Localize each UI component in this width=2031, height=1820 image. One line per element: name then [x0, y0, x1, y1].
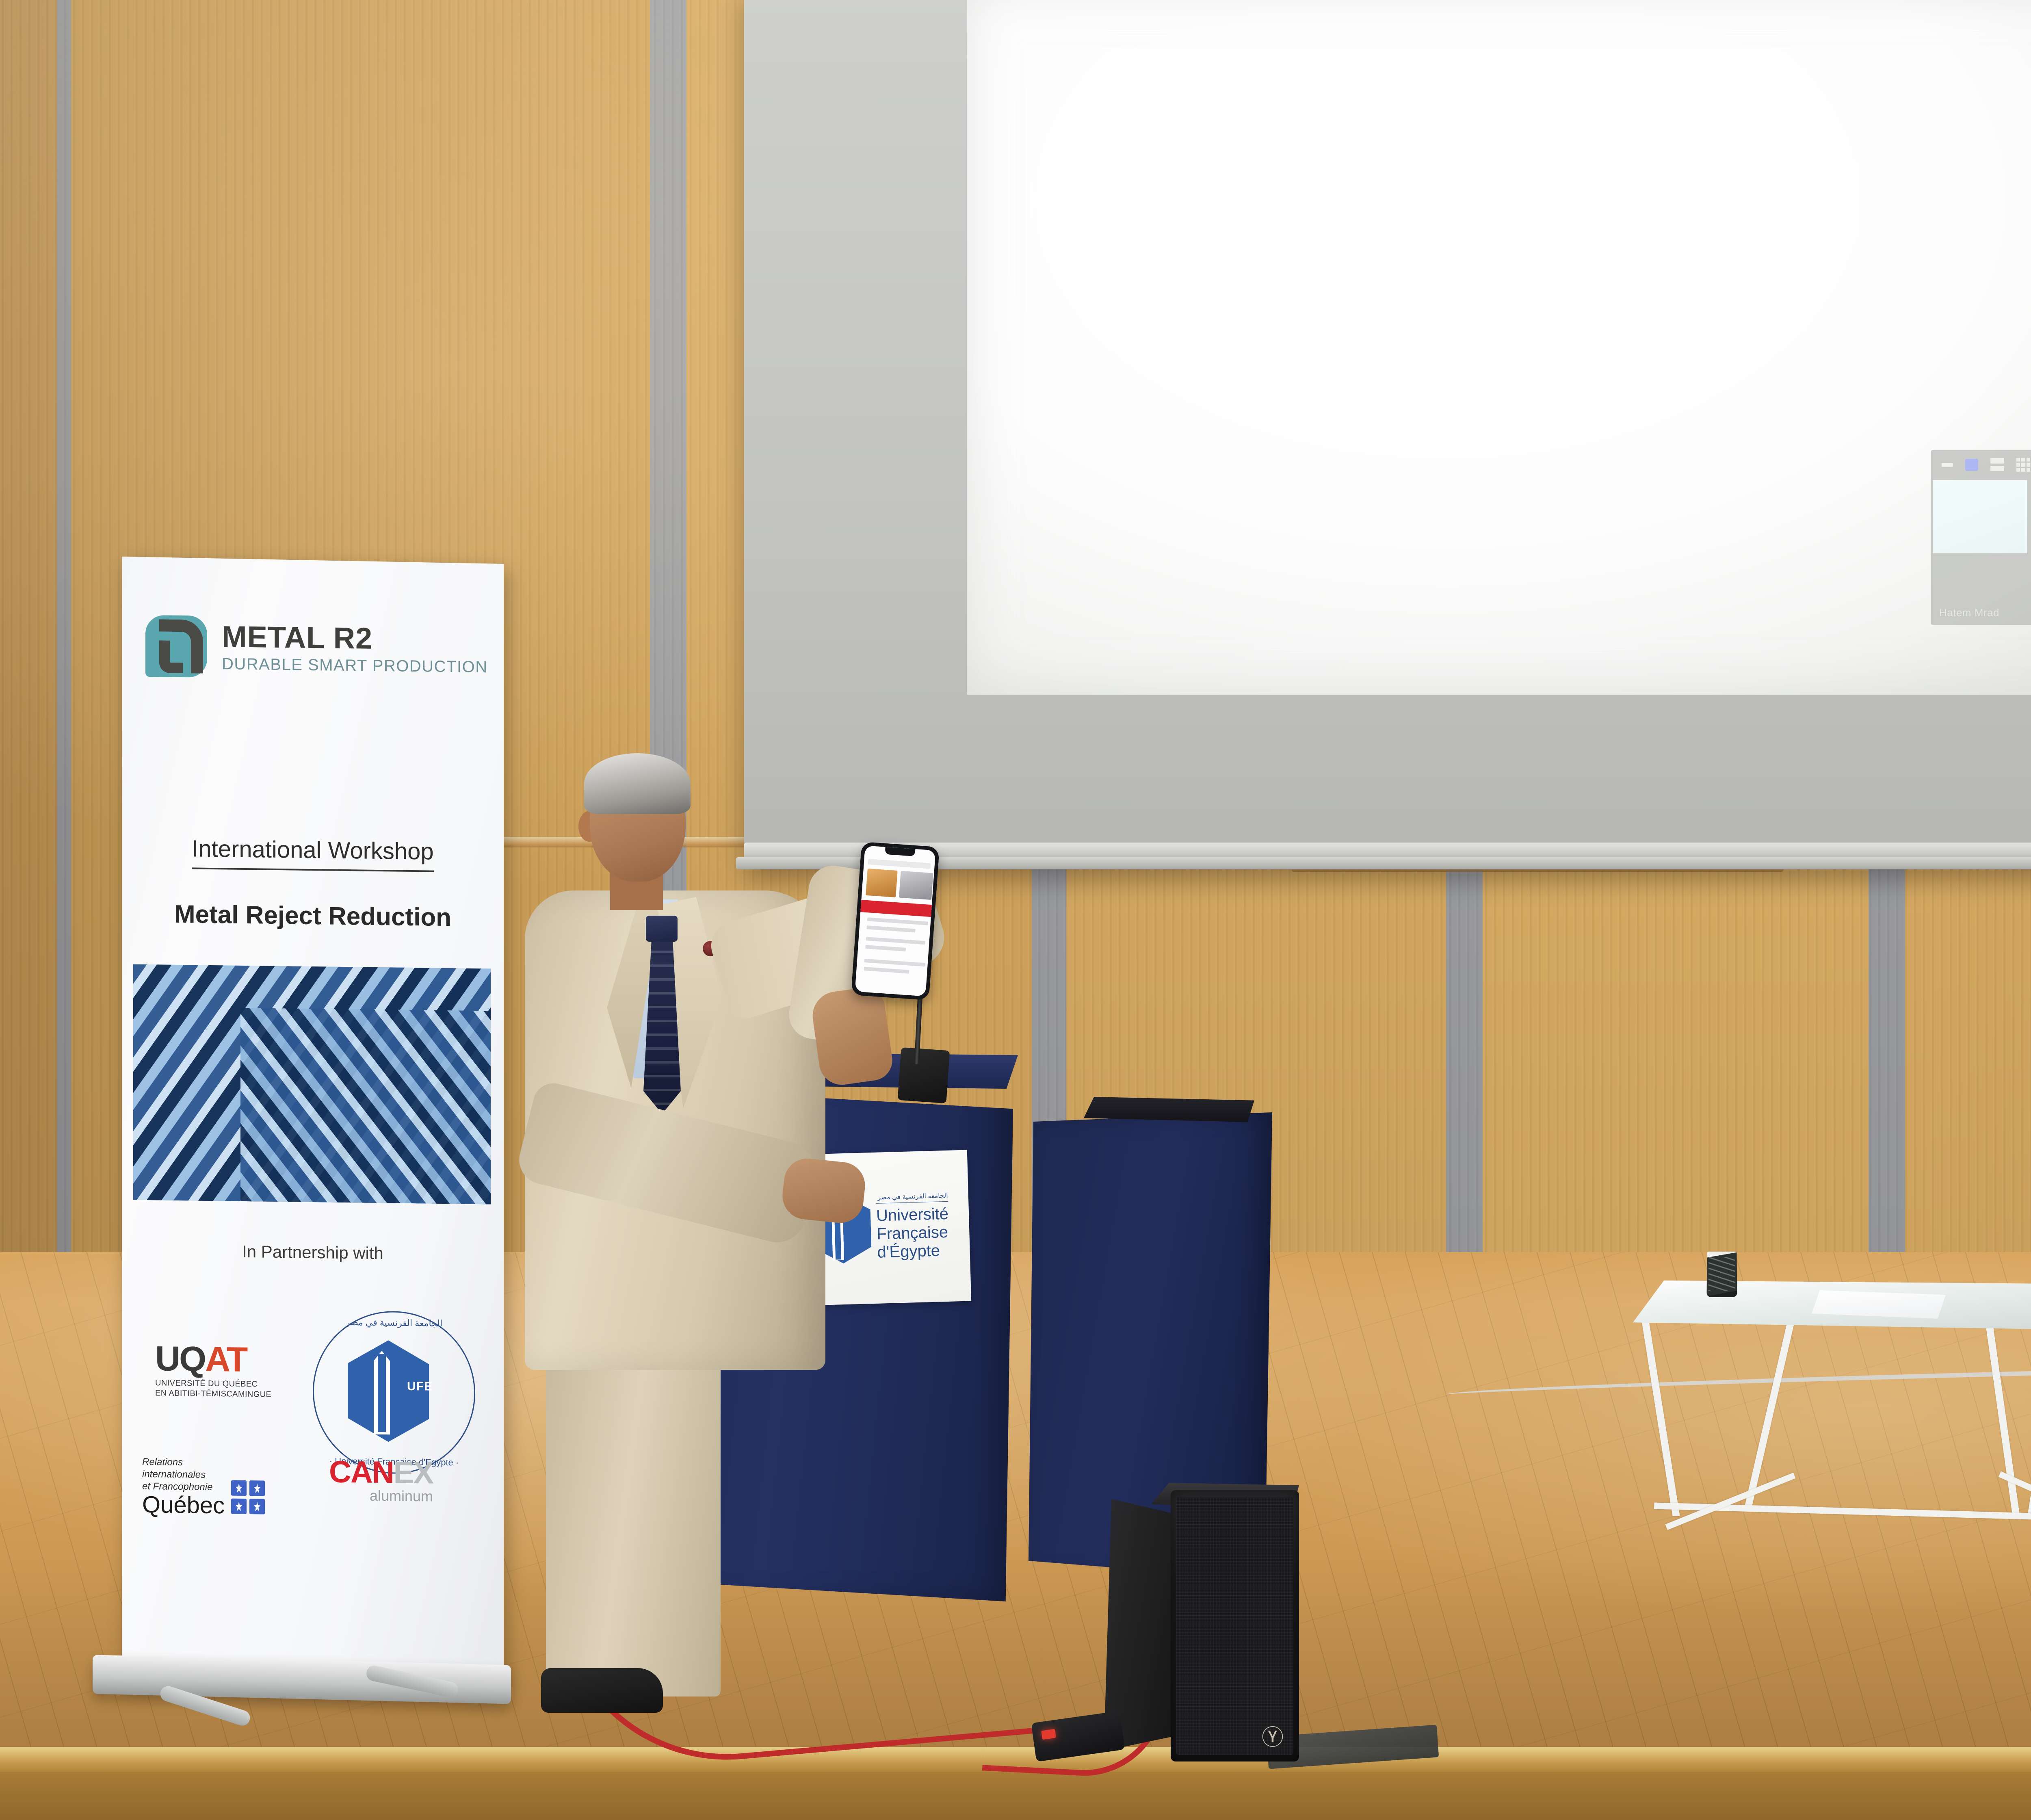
minimize-icon[interactable]	[1942, 463, 1953, 467]
yamaha-logo-icon: Ⓨ	[1260, 1726, 1285, 1751]
side-table	[1633, 1280, 2031, 1524]
pa-speaker-front: Ⓨ	[1171, 1490, 1299, 1761]
rollup-banner: METAL R2 DURABLE SMART PRODUCTION Intern…	[122, 557, 504, 1689]
conference-hall-scene: Hatem Mrad METAL R2 DURABLE SMART PRODUC…	[0, 0, 2031, 1820]
stage-front-face	[0, 1772, 2031, 1820]
uqat-line2: EN ABITIBI-TÉMISCAMINGUE	[155, 1388, 305, 1400]
quebec-logo: Relations internationales et Francophoni…	[142, 1456, 313, 1517]
projection-screen	[744, 0, 2031, 869]
presenter-shoe	[541, 1668, 663, 1713]
gallery-grid-icon[interactable]	[2016, 458, 2030, 472]
presenter-trousers	[546, 1343, 721, 1696]
canex-part-red: CAN	[329, 1455, 394, 1490]
banner-event-subject: Metal Reject Reduction	[122, 899, 504, 932]
av-rack-monitor-lid	[1084, 1097, 1254, 1122]
uqat-logo: UQAT UNIVERSITÉ DU QUÉBEC EN ABITIBI-TÉM…	[155, 1342, 305, 1400]
metal-r2-logo-icon	[145, 615, 207, 678]
banner-brand-lockup: METAL R2 DURABLE SMART PRODUCTION	[145, 615, 488, 681]
banner-event-label-text: International Workshop	[192, 835, 433, 872]
participant-video-tile[interactable]	[1933, 480, 2027, 553]
banner-partnership-label: In Partnership with	[122, 1240, 504, 1264]
presenter-hair	[584, 753, 691, 814]
quebec-wordmark: Québec	[142, 1494, 225, 1517]
banner-event-label: International Workshop	[122, 834, 504, 866]
ufe-arabic-text: الجامعة الفرنسية في مصر	[313, 1317, 475, 1329]
banner-brand-name: METAL R2	[222, 622, 488, 655]
side-table-frame	[1633, 1305, 2031, 1524]
banner-metal-profiles-photo	[133, 964, 491, 1205]
stacked-view-icon[interactable]	[1990, 458, 2004, 471]
video-conference-panel[interactable]: Hatem Mrad	[1931, 450, 2031, 625]
pa-loudspeaker: Ⓨ	[1099, 1483, 1299, 1767]
canex-part-grey: EX	[394, 1455, 433, 1490]
screen-projection-surface	[967, 0, 2031, 695]
quebec-fleur-de-lis-icon	[231, 1480, 265, 1514]
canex-logo: CANEX aluminum	[329, 1458, 433, 1506]
smartphone-notch	[885, 847, 915, 856]
ufe-logo: UFE الجامعة الفرنسية في مصر · Université…	[313, 1310, 475, 1475]
presenter-hand-right	[780, 1156, 868, 1225]
pa-speaker-grille	[1176, 1497, 1293, 1755]
video-view-toolbar[interactable]	[1931, 450, 2031, 479]
smartphone-screen[interactable]	[855, 845, 936, 996]
app-accent-bar	[860, 900, 932, 917]
uqat-acronym-part1: UQ	[155, 1339, 205, 1379]
participant-name-label: Hatem Mrad	[1939, 607, 1999, 619]
banner-partner-logos: UQAT UNIVERSITÉ DU QUÉBEC EN ABITIBI-TÉM…	[138, 1293, 487, 1525]
smartphone-held[interactable]	[851, 842, 940, 1000]
quebec-line2: internationales	[142, 1468, 225, 1481]
paper-cup[interactable]	[1707, 1252, 1737, 1297]
canex-sub: aluminum	[329, 1487, 433, 1505]
presenter-tie-knot	[646, 916, 678, 942]
speaker-view-icon[interactable]	[1965, 459, 1978, 471]
quebec-line1: Relations	[142, 1456, 225, 1469]
ufe-mark-text: UFE	[407, 1380, 433, 1394]
presenter-hand-left	[810, 985, 895, 1088]
banner-brand-tagline: DURABLE SMART PRODUCTION	[222, 656, 488, 675]
uqat-acronym-part2: AT	[205, 1340, 247, 1379]
